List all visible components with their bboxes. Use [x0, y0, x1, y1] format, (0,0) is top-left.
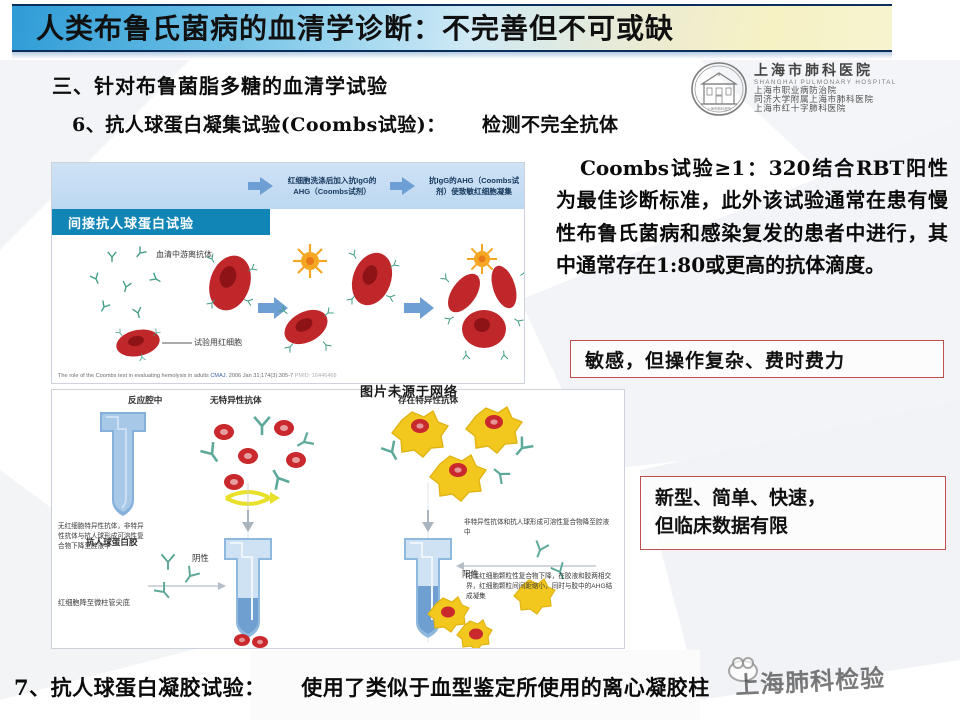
section-heading: 三、针对布鲁菌脂多糖的血清学试验 — [52, 70, 388, 99]
right-arrow-icon — [246, 175, 276, 197]
down-arrow-icon — [242, 510, 434, 532]
figure-gel-column-test: 反应腔中 无特异性抗体 存在特异性抗体 抗人球蛋白胶 无红细胞特异性抗体，非特异… — [52, 390, 624, 648]
svg-text:上海市肺科医院: 上海市肺科医院 — [707, 106, 731, 111]
callout-1-text: 敏感，但操作复杂、费时费力 — [585, 346, 845, 373]
figure2-label-no-specific-ab: 无特异性抗体 — [210, 394, 262, 406]
figure2-note-left: 无红细胞特异性抗体，非特异性抗体与抗人球形成可溶性复合物下降至腔液中 — [58, 522, 150, 552]
citation-journal: CMAJ. — [210, 373, 227, 379]
figure2-label-chamber: 反应腔中 — [128, 394, 162, 406]
figure1-label-free-antibody: 血清中游离抗体 — [156, 249, 212, 260]
figure2-label-positive: 阳性 — [462, 568, 479, 580]
item-6-heading: 6、抗人球蛋白凝集试验(Coombs试验)： 检测不完全抗体 — [72, 110, 619, 137]
hospital-building-seal-icon: 上海市肺科医院 — [690, 60, 748, 118]
callout-2-line-2: 但临床数据有限 — [655, 513, 788, 541]
figure2-note-right-bottom: 阳性红细胞颗粒性复合物下降，在胶液和胶两相交界，红细胞颗粒间间距缩小，同时与胶中… — [466, 572, 616, 602]
figure2-note-right-top: 非特异性抗体和抗人球形成可溶性复合物降至腔液中 — [464, 518, 612, 538]
figure2-note-left-bottom: 红细胞降至微柱管尖底 — [58, 598, 168, 609]
citation-pmid: PMID: 16446468 — [295, 373, 337, 379]
item-7-number: 7、抗人球蛋白凝胶试验： — [14, 675, 266, 700]
page-title: 人类布鲁氏菌病的血清学诊断：不完善但不可或缺 — [36, 7, 674, 47]
figure-indirect-coombs: 红细胞洗涤后加入抗IgG的 AHG（Coombs试剂） 抗IgG的AHG（Coo… — [52, 163, 524, 383]
figure1-citation: The role of the Coombs test in evaluatin… — [58, 373, 337, 379]
figure1-step-band: 红细胞洗涤后加入抗IgG的 AHG（Coombs试剂） 抗IgG的AHG（Coo… — [52, 163, 524, 209]
hospital-logo-text: 上海市肺科医院 SHANGHAI PULMONARY HOSPITAL 上海市职… — [754, 64, 897, 114]
figure1-label-test-rbc: 试验用红细胞 — [194, 337, 242, 348]
figure1-title-tab: 间接抗人球蛋白试验 — [52, 209, 270, 235]
figure2-label-negative: 阴性 — [192, 552, 209, 564]
figure1-step-2: 抗IgG的AHG（Coombs试剂）使致敏红细胞凝集 — [424, 175, 524, 197]
hospital-name-cn: 上海市肺科医院 — [754, 64, 897, 79]
figure1-canvas: 血清中游离抗体 试验用红细胞 The role of the Coombs te… — [52, 235, 524, 383]
item-6-description: 检测不完全抗体 — [482, 114, 619, 136]
figure1-step-1: 红细胞洗涤后加入抗IgG的 AHG（Coombs试剂） — [282, 175, 382, 197]
citation-detail: 2006 Jan 31;174(3):305-7 — [229, 373, 293, 379]
item-7-description: 使用了类似于血型鉴定所使用的离心凝胶柱 — [301, 675, 710, 700]
citation-title: The role of the Coombs test in evaluatin… — [58, 373, 209, 379]
right-arrow-icon — [388, 175, 418, 197]
callout-2-line-1: 新型、简单、快速， — [655, 485, 826, 513]
callout-sensitive: 敏感，但操作复杂、费时费力 — [570, 340, 944, 378]
hospital-logo: 上海市肺科医院 上海市肺科医院 SHANGHAI PULMONARY HOSPI… — [690, 58, 948, 120]
slide-title-bar: 人类布鲁氏菌病的血清学诊断：不完善但不可或缺 — [12, 4, 892, 52]
callout-new-method: 新型、简单、快速， 但临床数据有限 — [640, 476, 946, 550]
body-paragraph: Coombs试验≥1：320结合RBT阳性为最佳诊断标准，此外该试验通常在患有慢… — [556, 152, 948, 282]
item-6-number: 6、抗人球蛋白凝集试验(Coombs试验)： — [72, 114, 446, 136]
hospital-sub-3: 上海市红十字肺科医院 — [754, 105, 897, 114]
image-source-note: 图片未源于网络 — [360, 381, 458, 400]
